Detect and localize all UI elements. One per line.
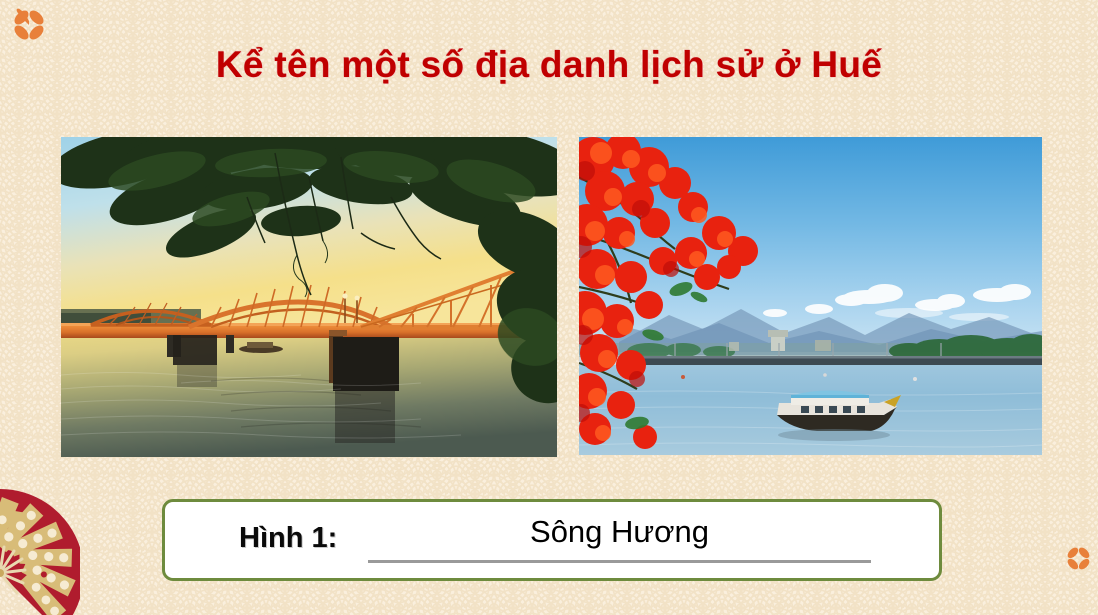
four-petal-flower-icon bbox=[1065, 545, 1092, 572]
folding-fan-icon bbox=[0, 487, 80, 615]
figure-label: Hình 1: bbox=[239, 522, 337, 555]
answer-underline bbox=[368, 560, 871, 563]
four-petal-flower-icon bbox=[11, 7, 47, 43]
photo-perfume-river-flame-flowers bbox=[579, 137, 1042, 455]
photo-truong-tien-bridge bbox=[61, 137, 557, 457]
answer-box[interactable]: Hình 1: Sông Hương bbox=[162, 499, 942, 581]
answer-input-value[interactable]: Sông Hương bbox=[368, 514, 871, 550]
slide-canvas: Kể tên một số địa danh lịch sử ở Huế bbox=[0, 0, 1098, 615]
page-title: Kể tên một số địa danh lịch sử ở Huế bbox=[0, 44, 1098, 86]
